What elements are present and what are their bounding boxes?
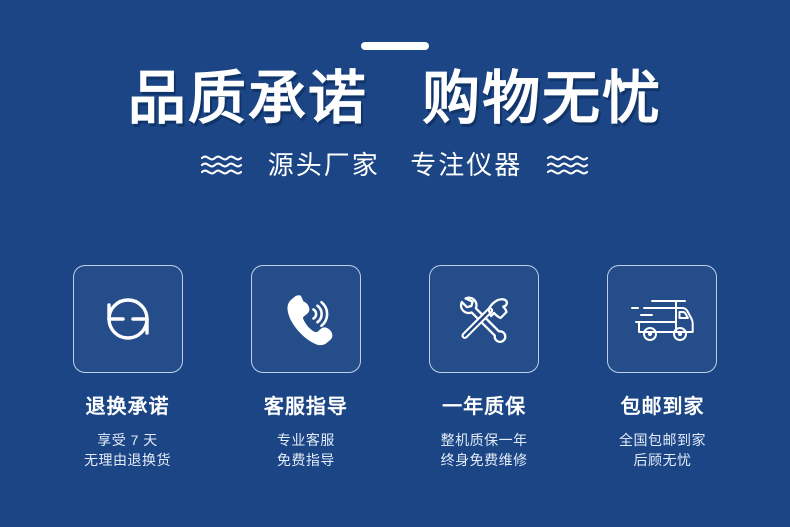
feature-desc: 享受 7 天 无理由退换货 <box>84 430 171 470</box>
feature-desc-line-1: 全国包邮到家 <box>619 430 706 450</box>
feature-item-support[interactable]: 客服指导 专业客服 免费指导 <box>223 265 388 470</box>
feature-desc-line-2: 免费指导 <box>277 450 335 470</box>
feature-title: 包邮到家 <box>620 395 704 419</box>
feature-desc-line-1: 享受 7 天 <box>84 430 171 450</box>
feature-title: 客服指导 <box>264 395 348 419</box>
feature-desc-line-2: 后顾无忧 <box>619 450 706 470</box>
delivery-truck-icon <box>628 291 696 347</box>
feature-item-exchange[interactable]: 退换承诺 享受 7 天 无理由退换货 <box>45 265 210 470</box>
feature-title: 退换承诺 <box>86 395 170 419</box>
wrench-hammer-icon <box>452 288 516 350</box>
headline-part-1: 品质承诺 <box>128 66 368 131</box>
feature-desc-line-2: 无理由退换货 <box>84 450 171 470</box>
refresh-exchange-icon <box>97 288 159 350</box>
feature-icon-box <box>607 265 717 373</box>
phone-support-icon <box>275 288 337 350</box>
top-divider <box>0 42 790 50</box>
feature-desc: 全国包邮到家 后顾无忧 <box>619 430 706 470</box>
subtitle-row: 源头厂家 专注仪器 <box>0 148 790 182</box>
page-title: 品质承诺 购物无忧 <box>128 66 662 132</box>
feature-list: 退换承诺 享受 7 天 无理由退换货 客服指导 专业客 <box>45 265 745 470</box>
feature-title: 一年质保 <box>442 395 526 419</box>
feature-icon-box <box>251 265 361 373</box>
wave-icon <box>200 151 244 179</box>
feature-desc-line-2: 终身免费维修 <box>441 450 528 470</box>
feature-desc: 整机质保一年 终身免费维修 <box>441 430 528 470</box>
promo-banner: 品质承诺 购物无忧 源头厂家 专注仪器 <box>0 0 790 527</box>
feature-icon-box <box>429 265 539 373</box>
subtitle-part-1: 源头厂家 <box>268 150 380 180</box>
headline-part-2: 购物无忧 <box>422 66 662 131</box>
feature-desc-line-1: 专业客服 <box>277 430 335 450</box>
feature-item-shipping[interactable]: 包邮到家 全国包邮到家 后顾无忧 <box>580 265 745 470</box>
feature-desc: 专业客服 免费指导 <box>277 430 335 470</box>
feature-icon-box <box>73 265 183 373</box>
headline-wrap: 品质承诺 购物无忧 <box>0 66 790 132</box>
wave-icon <box>546 151 590 179</box>
page-subtitle: 源头厂家 专注仪器 <box>268 148 523 182</box>
feature-desc-line-1: 整机质保一年 <box>441 430 528 450</box>
subtitle-part-2: 专注仪器 <box>410 150 522 180</box>
pill-divider-icon <box>361 42 429 50</box>
feature-item-warranty[interactable]: 一年质保 整机质保一年 终身免费维修 <box>402 265 567 470</box>
